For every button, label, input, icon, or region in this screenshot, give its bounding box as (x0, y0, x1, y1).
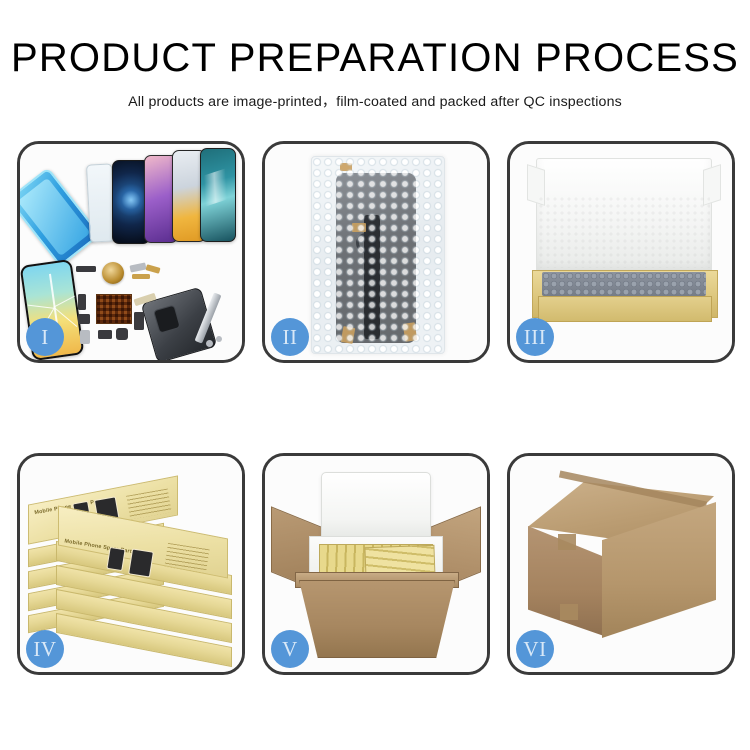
step-badge-6: VI (516, 630, 554, 668)
step-panel-grid: I II (17, 141, 735, 675)
step-illustration-4: Mobile Phone Spare Parts Mobile Phone Sp… (20, 456, 242, 672)
spare-part-icon (80, 330, 90, 344)
spare-part-icon (134, 312, 144, 330)
vibration-motor-icon (102, 262, 124, 284)
spare-part-icon (129, 262, 146, 272)
box-artwork-screen-icon (106, 547, 125, 571)
screw-icon (216, 336, 222, 342)
carton-tape-icon (558, 534, 576, 550)
step-panel-5: V (262, 453, 490, 675)
spare-part-icon (132, 274, 150, 279)
tape-icon (340, 163, 352, 171)
step-badge-5: V (271, 630, 309, 668)
step-badge-4: IV (26, 630, 64, 668)
foam-texture-icon (538, 196, 710, 268)
step-panel-4: Mobile Phone Spare Parts Mobile Phone Sp… (17, 453, 245, 675)
step-panel-1: I (17, 141, 245, 363)
step-illustration-6: VI (510, 456, 732, 672)
box-stack-icon: Mobile Phone Spare Parts Mobile Phone Sp… (28, 482, 240, 658)
step-illustration-1: I (20, 144, 242, 360)
foam-cooler-lid-icon (321, 472, 431, 540)
step-illustration-3: III (510, 144, 732, 360)
spare-part-icon (145, 264, 160, 274)
yellow-box-front-icon (538, 296, 712, 322)
screw-icon (206, 340, 213, 347)
spare-part-icon (76, 266, 96, 272)
product-preparation-infographic: PRODUCT PREPARATION PROCESS All products… (0, 0, 750, 750)
spare-part-icon (78, 314, 90, 324)
header: PRODUCT PREPARATION PROCESS All products… (0, 36, 750, 111)
home-button-icon (356, 233, 376, 253)
step-panel-6: VI (507, 453, 735, 675)
page-title: PRODUCT PREPARATION PROCESS (0, 36, 750, 80)
spare-part-icon (78, 294, 86, 310)
step-badge-3: III (516, 318, 554, 356)
step-panel-2: II (262, 141, 490, 363)
tape-icon (403, 322, 417, 341)
carton-tape-icon (560, 604, 578, 620)
step-illustration-2: II (265, 144, 487, 360)
tape-icon (352, 223, 366, 232)
bubble-wrap-bag-icon (311, 156, 445, 354)
step-badge-1: I (26, 318, 64, 356)
spare-part-icon (116, 328, 128, 340)
spare-part-icon (98, 330, 112, 339)
phone-screen-teal-icon (200, 148, 236, 242)
page-subtitle: All products are image-printed，film-coat… (0, 91, 750, 111)
box-artwork-screen-icon (128, 548, 154, 577)
carton-front-icon (299, 580, 455, 658)
step-panel-3: III (507, 141, 735, 363)
bubble-wrapped-units-icon (542, 272, 706, 296)
step-illustration-5: V (265, 456, 487, 672)
step-badge-2: II (271, 318, 309, 356)
logic-board-chip-icon (96, 294, 132, 324)
